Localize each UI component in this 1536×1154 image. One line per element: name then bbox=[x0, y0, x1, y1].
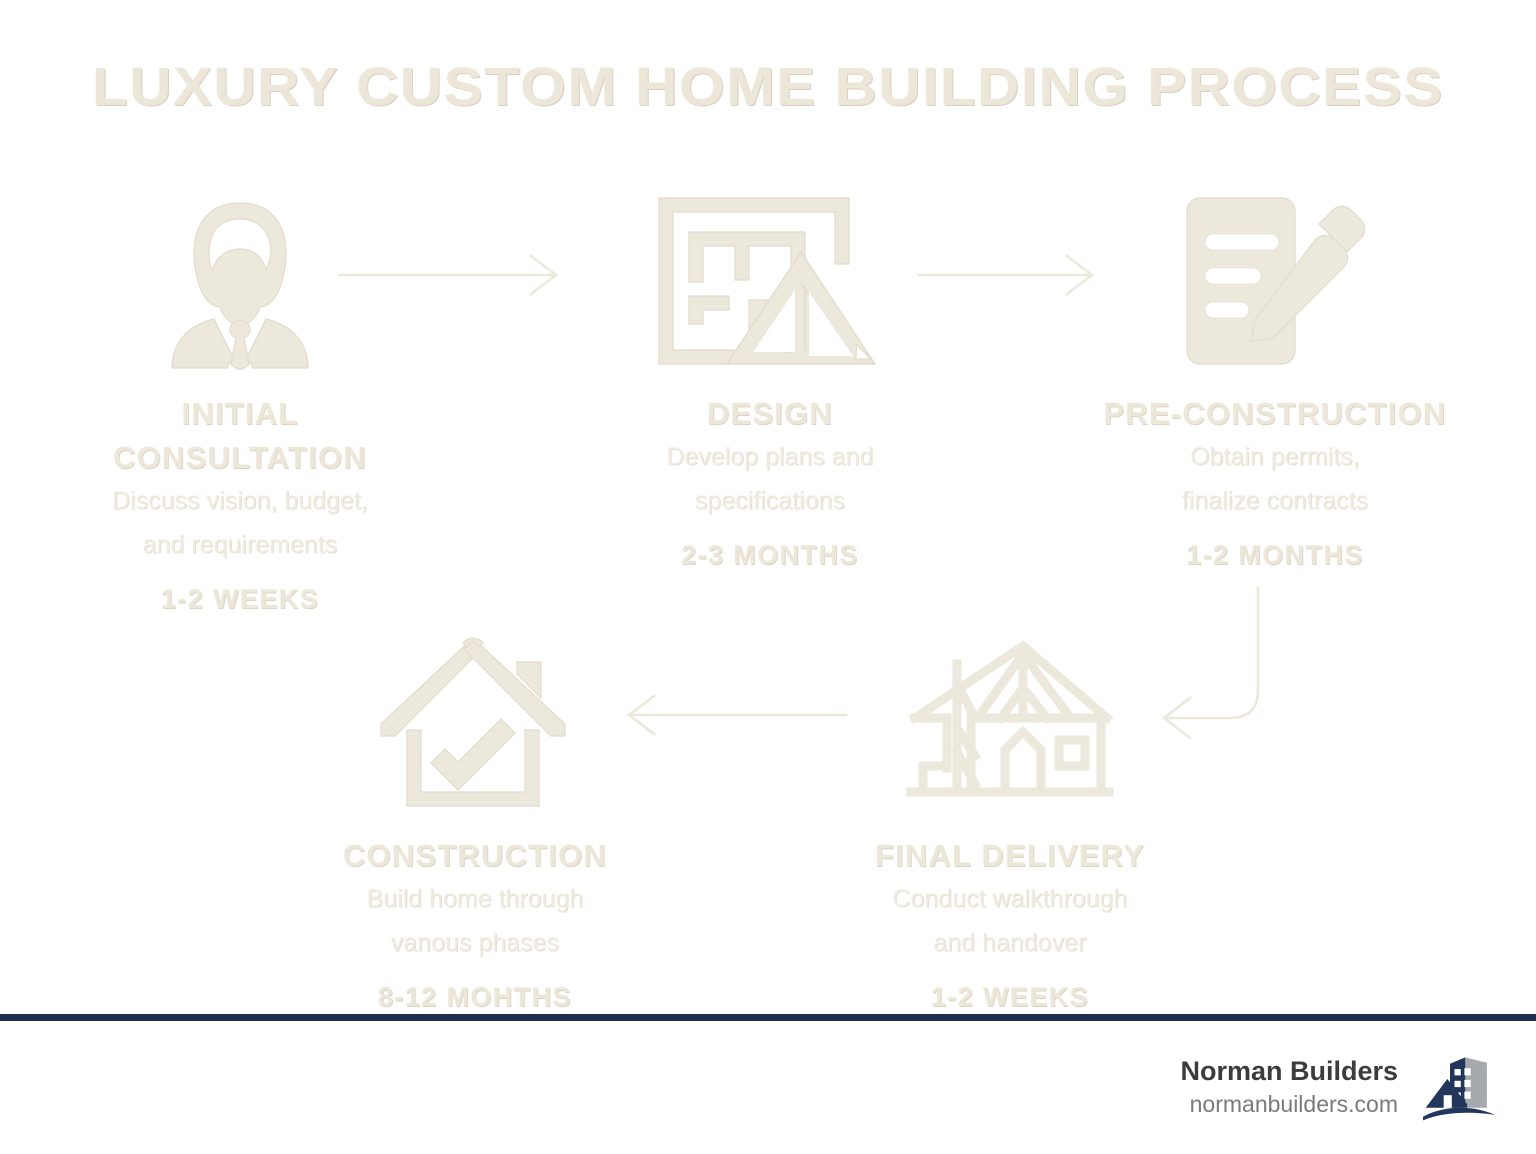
blueprint-icon bbox=[570, 180, 970, 370]
brand-name: Norman Builders bbox=[1180, 1055, 1398, 1087]
step-duration: 1-2 WEEKS bbox=[20, 584, 460, 615]
infographic-canvas: LUXURY CUSTOM HOME BUILDING PROCESS INIT… bbox=[0, 0, 1536, 1154]
brand-url[interactable]: normanbuilders.com bbox=[1180, 1089, 1398, 1120]
house-frame-icon bbox=[815, 612, 1205, 812]
step-description: Build home through vanous phases bbox=[255, 878, 695, 966]
page-title: LUXURY CUSTOM HOME BUILDING PROCESS bbox=[0, 58, 1536, 117]
step-title: CONSTRUCTION bbox=[255, 834, 695, 878]
step-description: Develop plans and specifications bbox=[570, 436, 970, 524]
arrow-elbow-down-left-icon bbox=[1150, 580, 1310, 765]
step-duration: 1-2 MONTHS bbox=[1040, 540, 1510, 571]
footer: Norman Builders normanbuilders.com bbox=[0, 1021, 1536, 1154]
footer-divider bbox=[0, 1014, 1536, 1021]
step-construction: CONSTRUCTION Build home through vanous p… bbox=[255, 612, 695, 1013]
step-final-delivery: FINAL DELIVERY Conduct walkthrough and h… bbox=[815, 612, 1205, 1013]
arrow-right-icon bbox=[915, 250, 1100, 305]
step-pre-construction: PRE-CONSTRUCTION Obtain permits, finaliz… bbox=[1040, 180, 1510, 571]
step-title: DESIGN bbox=[570, 392, 970, 436]
step-duration: 2-3 MONTHS bbox=[570, 540, 970, 571]
step-duration: 8-12 MOHTHS bbox=[255, 982, 695, 1013]
step-description: Discuss vision, budget, and requirements bbox=[20, 480, 460, 568]
step-description: Conduct walkthrough and handover bbox=[815, 878, 1205, 966]
step-design: DESIGN Develop plans and specifications … bbox=[570, 180, 970, 571]
step-description: Obtain permits, finalize contracts bbox=[1040, 436, 1510, 524]
step-title: PRE-CONSTRUCTION bbox=[1040, 392, 1510, 436]
document-pencil-icon bbox=[1040, 180, 1510, 370]
arrow-left-icon bbox=[600, 690, 850, 745]
arrow-right-icon bbox=[335, 250, 565, 305]
step-duration: 1-2 WEEKS bbox=[815, 982, 1205, 1013]
step-title: FINAL DELIVERY bbox=[815, 834, 1205, 878]
step-title: INITIAL CONSULTATION bbox=[20, 392, 460, 480]
building-logo-icon bbox=[1420, 1052, 1498, 1124]
step-initial-consultation: INITIAL CONSULTATION Discuss vision, bud… bbox=[20, 180, 460, 615]
brand-text-block: Norman Builders normanbuilders.com bbox=[1180, 1055, 1398, 1120]
